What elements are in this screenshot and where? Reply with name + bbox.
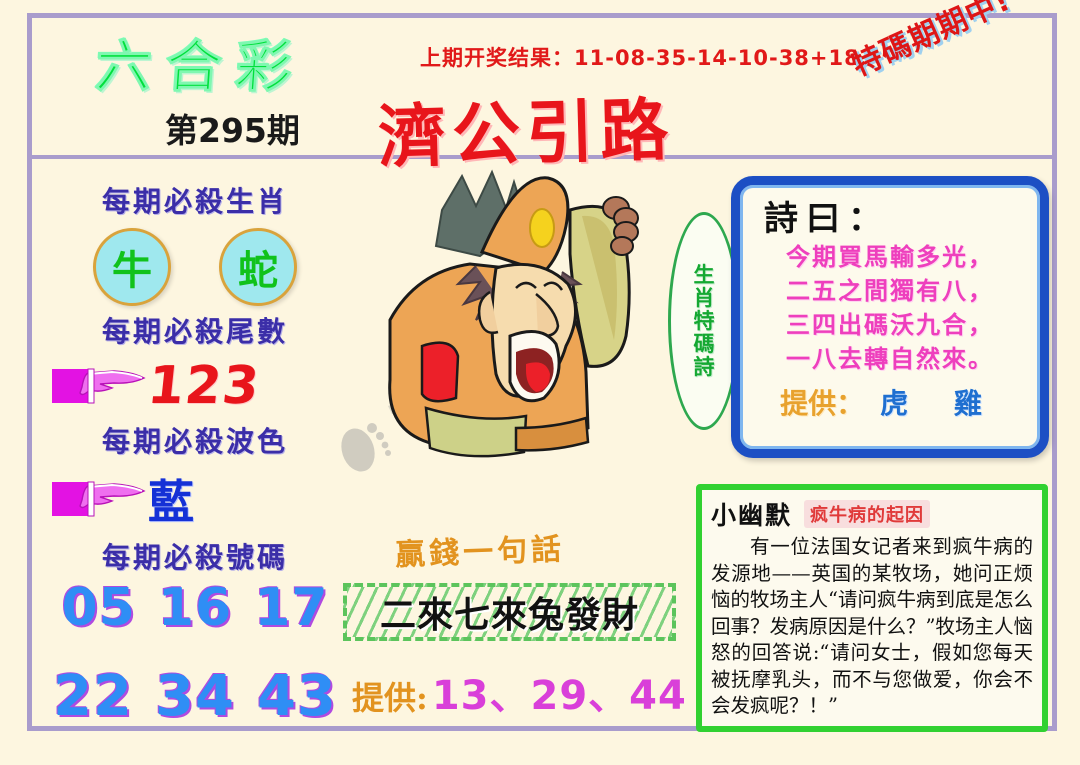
zodiac-row: 牛 蛇: [40, 228, 350, 306]
oval-char: 特: [694, 310, 715, 332]
poem-line: 一八去轉自然來。: [740, 342, 1040, 376]
kill-number: 43: [257, 664, 337, 729]
wave-kill-value: 藍: [148, 466, 194, 532]
humor-subtitle: 疯牛病的起因: [804, 500, 930, 528]
pointing-hand-icon: [52, 363, 148, 409]
poem-box: 詩曰： 今期買馬輸多光， 二五之間獨有八， 三四出碼沃九合， 一八去轉自然來。 …: [731, 176, 1049, 458]
kill-numbers-row-1: 05 16 17: [40, 578, 350, 638]
oval-char: 碼: [694, 333, 715, 355]
humor-box: 小幽默 疯牛病的起因 有一位法国女记者来到疯牛病的发源地——英国的某牧场，她问正…: [696, 484, 1048, 732]
poem-line: 三四出碼沃九合，: [740, 308, 1040, 342]
lottery-poster: 六合彩 第295期 上期开奖结果：11-08-35-14-10-38+18 濟公…: [0, 0, 1080, 765]
last-draw-numbers: 11-08-35-14-10-38+18: [574, 46, 860, 70]
kill-number: 16: [158, 578, 232, 638]
win-phrase-title: 贏錢一句話: [394, 524, 565, 574]
poem-credit-label: 提供：: [780, 382, 864, 422]
win-phrase-text: 二來七來兔發財: [380, 586, 639, 638]
kill-number: 17: [254, 578, 328, 638]
predictions-column: 每期必殺生肖 牛 蛇 每期必殺尾數 123 每期必殺波色: [40, 180, 350, 729]
zodiac-badge-1: 牛: [93, 228, 171, 306]
last-draw-result: 上期开奖结果：11-08-35-14-10-38+18: [420, 42, 860, 72]
poem-credit: 提供： 虎 雞: [740, 382, 1040, 422]
kill-number: 22: [53, 664, 133, 729]
supply-label: 提供:: [352, 673, 428, 719]
wave-pick-row: 藍: [40, 466, 350, 532]
kill-number: 05: [61, 578, 135, 638]
site-logo: 六合彩: [93, 22, 309, 103]
humor-body-text: 有一位法国女记者来到疯牛病的发源地——英国的某牧场，她问正烦恼的牧场主人“请问疯…: [711, 534, 1033, 720]
humor-header: 小幽默 疯牛病的起因: [711, 496, 1033, 532]
number-kill-label: 每期必殺號碼: [40, 536, 350, 576]
poem-heading: 詩曰：: [740, 185, 1040, 240]
zodiac-poem-oval: 生 肖 特 碼 詩: [668, 212, 740, 430]
poem-line: 二五之間獨有八，: [740, 274, 1040, 308]
poem-line: 今期買馬輸多光，: [740, 240, 1040, 274]
win-phrase-box: 二來七來兔發財: [343, 583, 676, 641]
supply-row: 提供: 13、29、44: [352, 663, 687, 721]
tail-kill-label: 每期必殺尾數: [40, 310, 350, 350]
tail-pick-row: 123: [40, 356, 350, 416]
last-draw-label: 上期开奖结果：: [420, 46, 574, 70]
tail-kill-value: 123: [145, 356, 263, 416]
kill-numbers-row-2: 22 34 43: [40, 664, 350, 729]
poem-credit-value: 虎 雞: [880, 382, 1000, 422]
zodiac-badge-2: 蛇: [219, 228, 297, 306]
issue-number: 第295期: [165, 104, 300, 152]
zodiac-kill-label: 每期必殺生肖: [40, 180, 350, 220]
wave-kill-label: 每期必殺波色: [40, 420, 350, 460]
humor-title: 小幽默: [711, 496, 792, 532]
supply-numbers: 13、29、44: [432, 663, 687, 721]
pointing-hand-icon-2: [52, 476, 148, 522]
oval-char: 詩: [694, 356, 715, 378]
oval-char: 生: [694, 264, 715, 286]
kill-number: 34: [155, 664, 235, 729]
jigong-monk-illustration: [330, 160, 690, 490]
oval-char: 肖: [694, 287, 715, 309]
